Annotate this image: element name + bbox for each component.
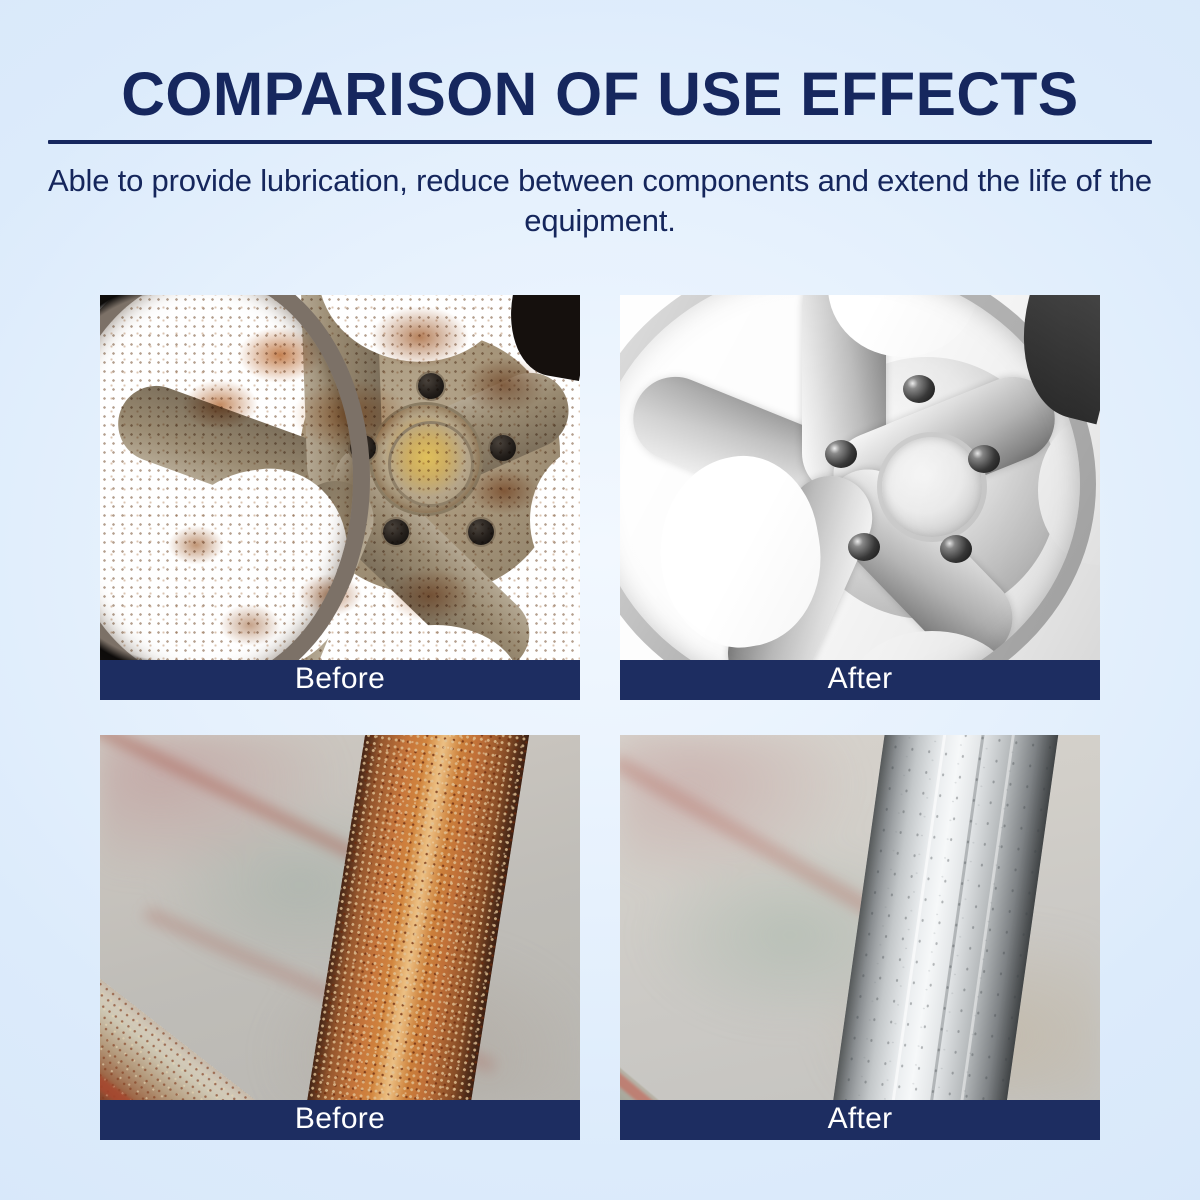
caption-label: After — [828, 1104, 893, 1136]
clean-wheel-illustration — [620, 295, 1100, 660]
comparison-grid: Before — [100, 295, 1100, 1140]
rusty-pipe-photo — [100, 735, 580, 1100]
clean-pipe-photo — [620, 735, 1100, 1100]
rusty-wheel-illustration — [100, 295, 580, 660]
page-subtitle: Able to provide lubrication, reduce betw… — [48, 161, 1153, 240]
rusty-wheel-photo — [100, 295, 580, 660]
caption-label: After — [828, 664, 893, 696]
caption-bar-after-wheel: After — [620, 660, 1100, 700]
comparison-panel-before-pipe: Before — [100, 735, 580, 1140]
tire-edge — [100, 295, 232, 660]
caption-bar-after-pipe: After — [620, 1100, 1100, 1140]
caption-label: Before — [295, 1104, 385, 1136]
clean-pipe-illustration — [620, 735, 1100, 1100]
clean-wheel-photo — [620, 295, 1100, 660]
comparison-panel-before-wheel: Before — [100, 295, 580, 700]
caption-bar-before-pipe: Before — [100, 1100, 580, 1140]
page-title: COMPARISON OF USE EFFECTS — [6, 62, 1194, 126]
comparison-panel-after-pipe: After — [620, 735, 1100, 1140]
comparison-panel-after-wheel: After — [620, 295, 1100, 700]
title-divider — [48, 140, 1152, 144]
rusty-pipe-illustration — [100, 735, 580, 1100]
header: COMPARISON OF USE EFFECTS Able to provid… — [0, 0, 1200, 240]
caption-label: Before — [295, 664, 385, 696]
caption-bar-before-wheel: Before — [100, 660, 580, 700]
